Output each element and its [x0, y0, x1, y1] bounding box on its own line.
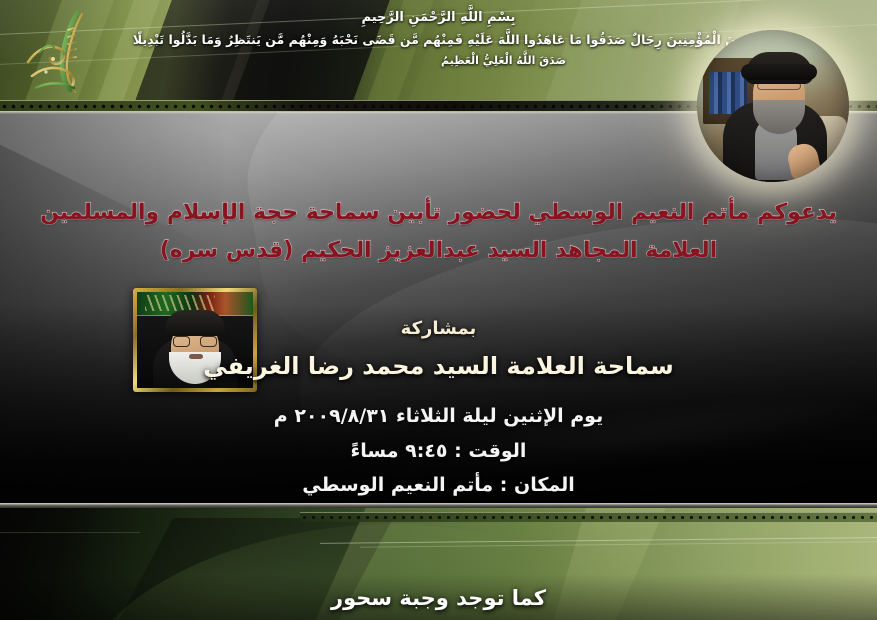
footer-hairline-3 [0, 532, 140, 533]
footer-filmstrip-dots [300, 515, 877, 520]
headline-line-2: العلامة المجاهد السيد عبدالعزيز الحكيم (… [0, 238, 877, 263]
banner-calligraphy-icon [145, 295, 215, 311]
basmala-text: بِسْمِ اللَّهِ الرَّحْمَنِ الرَّحِيمِ [0, 8, 877, 28]
portrait-vignette [697, 30, 849, 182]
invitation-poster: بِسْمِ اللَّهِ الرَّحْمَنِ الرَّحِيمِ مِ… [0, 0, 877, 620]
event-time: الوقت : ٩:٤٥ مساءً [0, 440, 877, 462]
footer-divider [0, 503, 877, 508]
portrait-photo-circular [697, 30, 849, 182]
headline-line-1: يدعوكم مأتم النعيم الوسطي لحضور تأبين سم… [0, 200, 877, 225]
calligraphy-logo-icon [6, 4, 106, 102]
footer-note: كما توجد وجبة سحور [0, 586, 877, 610]
footer-filmstrip-divider [300, 512, 877, 522]
participation-label: بمشاركة [0, 318, 877, 339]
event-date: يوم الإثنين ليلة الثلاثاء ٢٠٠٩/٨/٣١ م [0, 405, 877, 427]
participant-name: سماحة العلامة السيد محمد رضا الغريفي [0, 352, 877, 380]
event-place: المكان : مأتم النعيم الوسطي [0, 474, 877, 496]
